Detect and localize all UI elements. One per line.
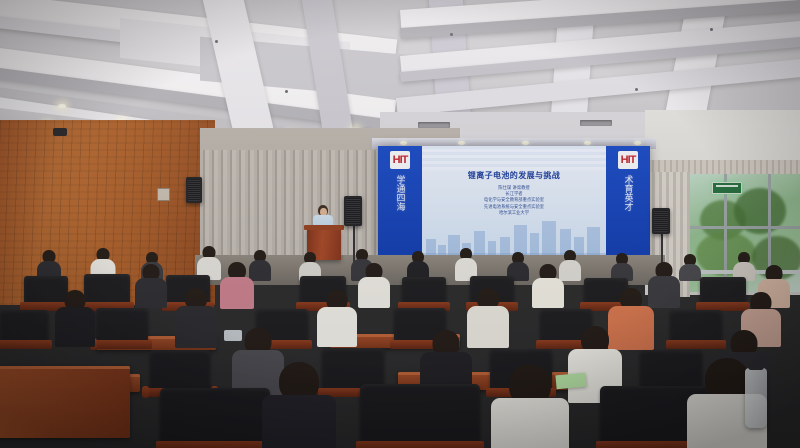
audience-person (58, 290, 92, 350)
auditorium-seat[interactable] (160, 388, 270, 448)
hvac-vent (580, 120, 612, 126)
seat-desk (0, 366, 130, 438)
auditorium-seat[interactable] (96, 308, 148, 344)
sprinkler-head (215, 40, 218, 43)
audience-person (320, 290, 354, 350)
auditorium-seat[interactable] (150, 350, 210, 392)
downlight (58, 104, 66, 108)
slide-header-stripes (422, 146, 606, 170)
lecture-hall-photo: HIT 学通四海 锂离子电池的发展与挑战 陈仕谋 讲席教授 长江学者 电化学与安… (0, 0, 800, 448)
fire-alarm-box (157, 188, 170, 201)
banner-right-text: 术育英才 (622, 175, 635, 211)
emblem-label: HIT (393, 155, 408, 166)
audience-person (470, 288, 506, 350)
sprinkler-head (450, 33, 453, 36)
audience-person (178, 288, 214, 350)
auditorium-seat[interactable] (670, 310, 722, 344)
sprinkler-head (710, 28, 713, 31)
wall-pa-speaker-icon (186, 177, 202, 203)
emblem-label: HIT (621, 155, 636, 166)
pa-speaker-icon (344, 196, 362, 226)
ceiling-speaker-icon (53, 128, 67, 136)
university-emblem-icon: HIT (390, 151, 410, 169)
sprinkler-head (285, 90, 288, 93)
water-bottle[interactable] (745, 368, 767, 428)
auditorium-seat[interactable] (360, 384, 480, 448)
audience-row-foreground (0, 388, 800, 448)
slide-title: 锂离子电池的发展与挑战 (422, 170, 606, 181)
banner-left-text: 学通四海 (394, 175, 407, 211)
sprinkler-head (635, 88, 638, 91)
audience-person-foreground (498, 364, 562, 448)
university-emblem-icon: HIT (618, 151, 638, 169)
exit-sign (712, 182, 742, 194)
audience-person-foreground (268, 362, 330, 448)
auditorium-seat[interactable] (0, 310, 48, 344)
pa-speaker-icon (652, 208, 670, 234)
